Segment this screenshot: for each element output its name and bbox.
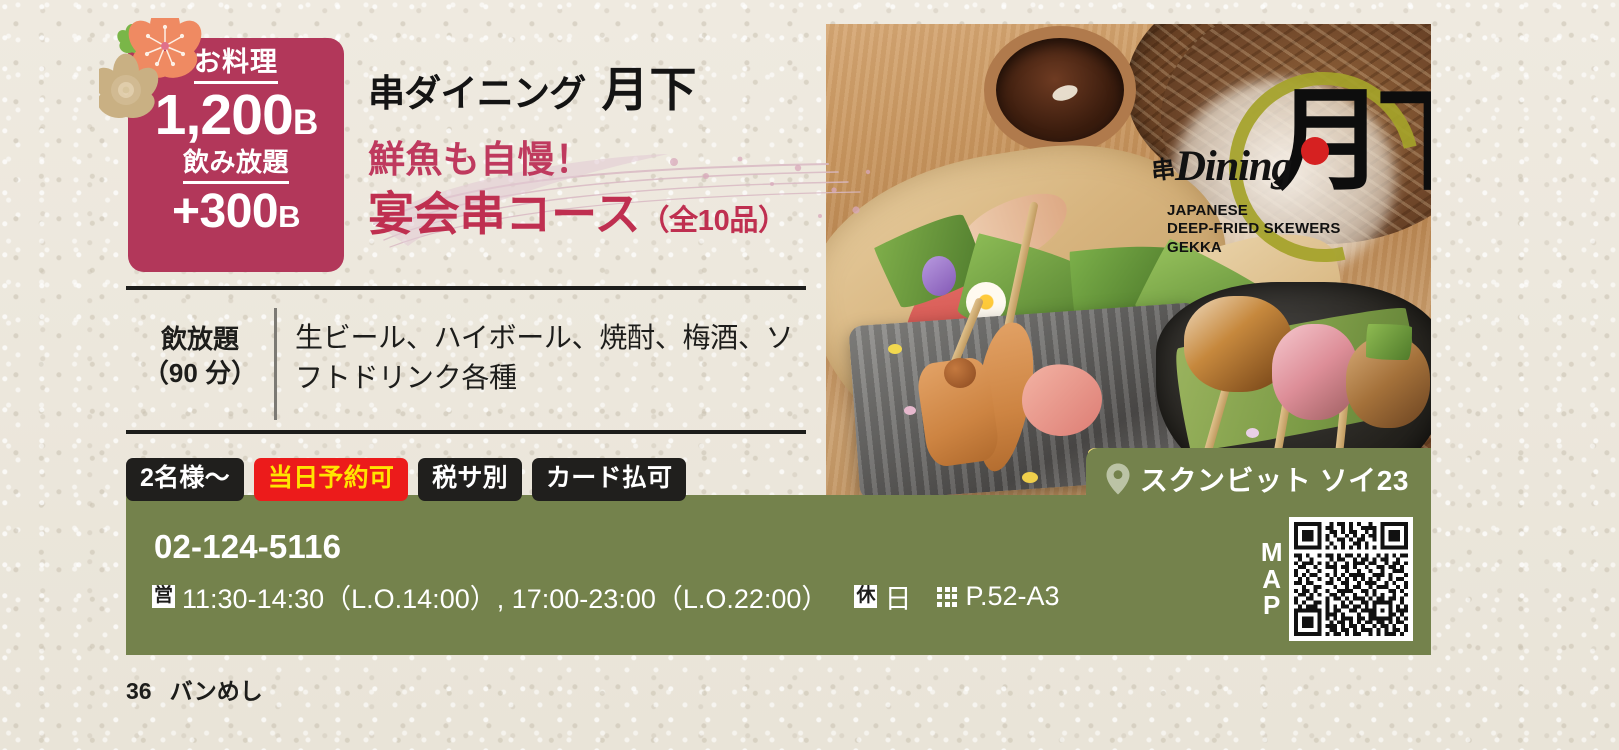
divider-top — [126, 286, 806, 290]
closed-days-text: 日 — [884, 577, 911, 616]
shop-title-line: 串ダイニング月下 — [368, 66, 928, 113]
price-drink-label: 飲み放題 — [183, 148, 289, 184]
hours-row: 営 11:30-14:30（L.O.14:00）, 17:00-23:00（L.… — [152, 577, 1060, 616]
open-hours-icon: 営 — [152, 585, 175, 608]
price-food-value: 1,200 — [155, 83, 293, 147]
map-reference: P.52-A3 — [965, 581, 1059, 612]
drink-plan-label: 飲放題 （90 分） — [126, 304, 274, 391]
advertisement-card: 月下 串 Dining JAPANESE DEEP-FRIED SKEWERS … — [126, 18, 1431, 655]
logo-subtitle-line3: GEKKA — [1167, 239, 1341, 257]
logo-subtitle-line2: DEEP-FRIED SKEWERS — [1167, 220, 1341, 238]
area-label-text: スクンビット ソイ23 — [1140, 459, 1409, 499]
badge-row: 2名様〜 当日予約可 税サ別 カード払可 — [126, 458, 686, 501]
divider-bottom — [126, 430, 806, 434]
info-bar: 02-124-5116 営 11:30-14:30（L.O.14:00）, 17… — [126, 495, 1431, 655]
price-box: お料理 1,200B 飲み放題 +300B — [128, 38, 344, 272]
course-title-line: 宴会串コース（全10品） — [368, 191, 928, 237]
map-label-letter-m: M — [1261, 539, 1283, 566]
photo-garnish-herb — [1366, 324, 1412, 360]
course-item-count: （全10品） — [640, 205, 787, 237]
phone-number[interactable]: 02-124-5116 — [154, 528, 341, 566]
map-label: M A P — [1261, 539, 1283, 619]
badge-min-guests[interactable]: 2名様〜 — [126, 458, 244, 501]
catch-copy: 鮮魚も自慢！ — [368, 141, 928, 178]
closed-days-icon: 休 — [854, 585, 877, 608]
open-hours-text: 11:30-14:30（L.O.14:00）, 17:00-23:00（L.O.… — [182, 577, 828, 616]
badge-same-day-reservation[interactable]: 当日予約可 — [254, 458, 408, 501]
headline-block: 串ダイニング月下 鮮魚も自慢！ 宴会串コース（全10品） — [368, 66, 928, 237]
logo-kushi-kanji: 串 — [1149, 149, 1177, 186]
drink-plan-label-line1: 飲放題 — [126, 322, 274, 356]
drink-plan-row: 飲放題 （90 分） 生ビール、ハイボール、焼酎、梅酒、ソフトドリンク各種 — [126, 304, 806, 424]
drink-plan-label-line2: （90 分） — [126, 356, 274, 390]
footer-section-name: バンめし — [170, 672, 263, 706]
page-number: 36 — [126, 678, 152, 705]
logo-dining-wordmark: Dining — [1175, 142, 1292, 191]
price-drink-currency: B — [278, 199, 300, 234]
map-pin-icon — [1106, 463, 1130, 495]
photo-sakura-shrimp-skewer — [1272, 324, 1358, 420]
qr-code[interactable] — [1289, 517, 1413, 641]
price-food-label: お料理 — [194, 47, 278, 84]
price-drink-label-wrap: 飲み放題 — [128, 145, 344, 184]
logo-subtitle: JAPANESE DEEP-FRIED SKEWERS GEKKA — [1167, 202, 1341, 257]
drink-plan-items: 生ビール、ハイボール、焼酎、梅酒、ソフトドリンク各種 — [277, 304, 806, 398]
price-drink-value: +300 — [172, 185, 278, 238]
photo-petal-garnish-2 — [904, 406, 916, 415]
price-food-label-wrap: お料理 — [128, 47, 344, 84]
logo-subtitle-line1: JAPANESE — [1167, 202, 1341, 220]
grid-icon — [937, 587, 957, 607]
photo-soy-sauce-bowl — [984, 26, 1136, 154]
photo-petal-garnish-1 — [888, 344, 902, 354]
logo-red-dot — [1301, 137, 1329, 165]
restaurant-logo: 月下 串 Dining JAPANESE DEEP-FRIED SKEWERS … — [1151, 74, 1421, 274]
map-label-letter-p: P — [1261, 592, 1283, 619]
badge-card-accepted[interactable]: カード払可 — [532, 458, 686, 501]
badge-tax-service-excluded[interactable]: 税サ別 — [418, 458, 522, 501]
course-name: 宴会串コース — [368, 188, 640, 240]
map-qr-area: M A P — [1261, 517, 1413, 641]
photo-petal-garnish-5 — [1022, 472, 1038, 483]
price-food-value-row: 1,200B — [128, 86, 344, 145]
area-label: スクンビット ソイ23 — [1086, 448, 1431, 510]
logo-gekka-kanji: 月下 — [1273, 88, 1431, 194]
photo-plum-topping — [944, 358, 976, 388]
page-footer: 36 バンめし — [126, 672, 263, 706]
photo-petal-garnish-7 — [1246, 428, 1259, 438]
price-food-currency: B — [293, 103, 317, 142]
shop-category: 串ダイニング — [368, 73, 586, 114]
map-label-letter-a: A — [1261, 566, 1283, 593]
qr-code-image — [1294, 522, 1408, 636]
shop-name: 月下 — [602, 63, 698, 116]
photo-edible-flower-purple — [922, 256, 956, 296]
price-drink-value-row: +300B — [128, 186, 344, 238]
